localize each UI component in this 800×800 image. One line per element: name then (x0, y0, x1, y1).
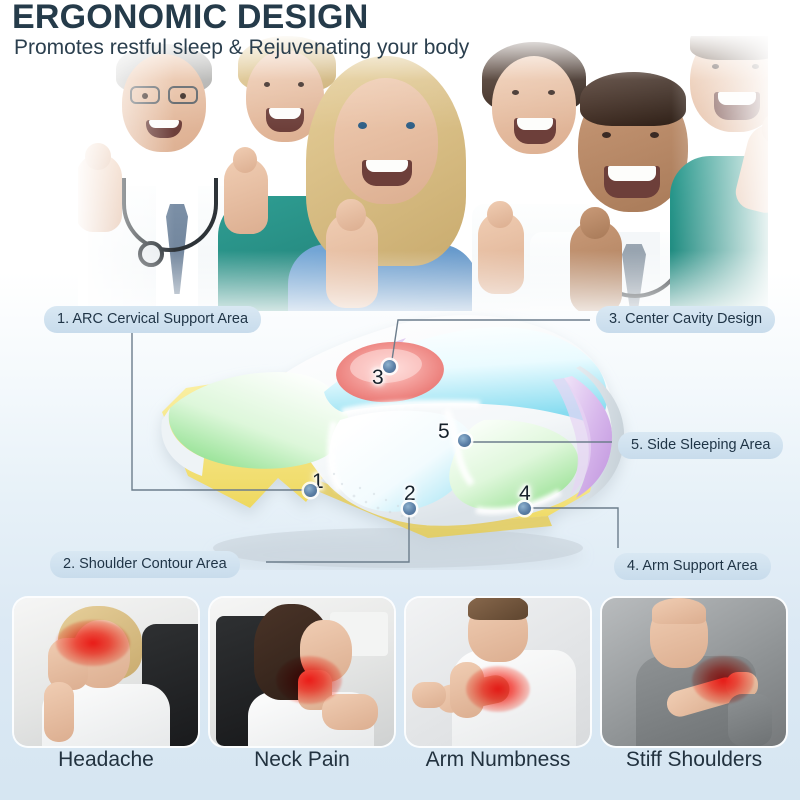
pain-indicator-shoulder (692, 656, 754, 704)
pain-indicator-arm (466, 666, 530, 712)
symptom-caption-headache: Headache (14, 748, 198, 772)
pain-indicator-neck (276, 656, 342, 704)
symptom-card-arm-numbness[interactable] (406, 598, 590, 746)
page-title: ERGONOMIC DESIGN (12, 0, 368, 37)
symptom-caption-arm-numbness: Arm Numbness (406, 748, 590, 772)
callout-pill-4[interactable]: 4. Arm Support Area (614, 553, 771, 580)
marker-number-5: 5 (438, 420, 450, 444)
marker-dot-2[interactable] (403, 502, 416, 515)
symptom-caption-stiff-shoulders: Stiff Shoulders (602, 748, 786, 772)
symptom-card-neck-pain[interactable] (210, 598, 394, 746)
callout-pill-1[interactable]: 1. ARC Cervical Support Area (44, 306, 261, 333)
callout-pill-2[interactable]: 2. Shoulder Contour Area (50, 551, 240, 578)
marker-dot-5[interactable] (458, 434, 471, 447)
marker-dot-3[interactable] (383, 360, 396, 373)
symptom-caption-neck-pain: Neck Pain (210, 748, 394, 772)
symptom-card-row (0, 598, 800, 758)
infographic-page: ERGONOMIC DESIGN Promotes restful sleep … (0, 0, 800, 800)
callout-pill-5[interactable]: 5. Side Sleeping Area (618, 432, 783, 459)
callout-pill-3[interactable]: 3. Center Cavity Design (596, 306, 775, 333)
page-subtitle: Promotes restful sleep & Rejuvenating yo… (14, 36, 469, 60)
doctors-hero-image (78, 36, 768, 311)
pain-indicator-headache (56, 620, 130, 666)
marker-dot-1[interactable] (304, 484, 317, 497)
symptom-card-headache[interactable] (14, 598, 198, 746)
marker-number-3: 3 (372, 366, 384, 390)
symptom-caption-row: Headache Neck Pain Arm Numbness Stiff Sh… (0, 748, 800, 772)
symptom-card-stiff-shoulders[interactable] (602, 598, 786, 746)
marker-dot-4[interactable] (518, 502, 531, 515)
